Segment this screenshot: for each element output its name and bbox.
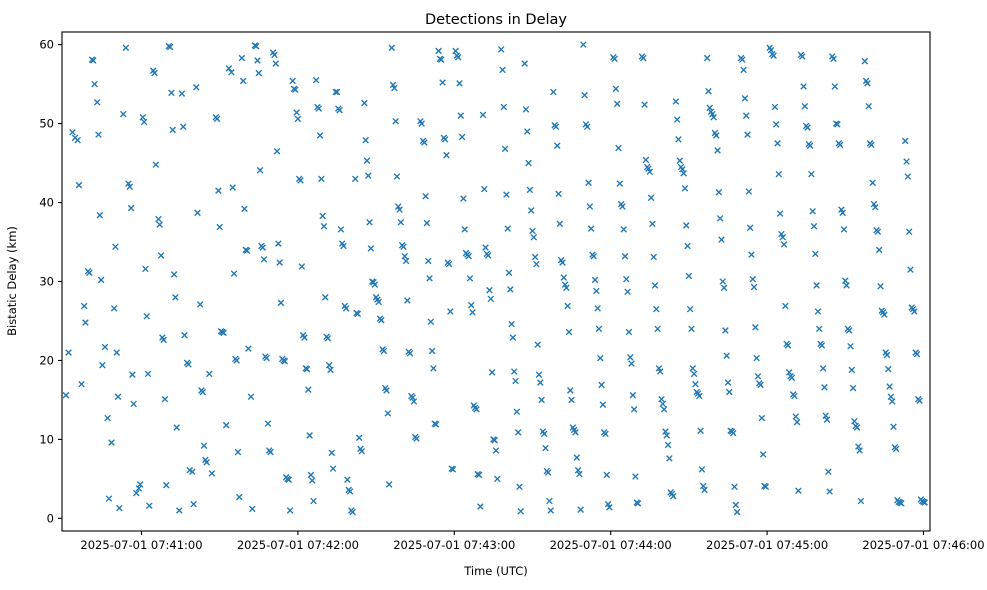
y-tick-label: 60 — [39, 38, 54, 52]
y-axis-label: Bistatic Delay (km) — [5, 226, 19, 336]
matplotlib-figure: Detections in Delay 2025-07-01 07:41:002… — [0, 0, 987, 590]
x-tick-label: 2025-07-01 07:46:00 — [862, 538, 984, 552]
y-tick-label: 10 — [39, 432, 54, 446]
x-tick-label: 2025-07-01 07:42:00 — [237, 538, 359, 552]
figure-background — [0, 0, 987, 590]
scatter-plot-canvas: Detections in Delay 2025-07-01 07:41:002… — [0, 0, 987, 590]
y-tick-label: 50 — [39, 117, 54, 131]
x-tick-label: 2025-07-01 07:41:00 — [80, 538, 202, 552]
y-tick-label: 40 — [39, 196, 54, 210]
y-tick-label: 20 — [39, 353, 54, 367]
page-title: Detections in Delay — [425, 12, 567, 28]
x-axis-label: Time (UTC) — [463, 564, 528, 578]
x-tick-label: 2025-07-01 07:44:00 — [550, 538, 672, 552]
y-tick-label: 0 — [47, 511, 54, 525]
x-tick-label: 2025-07-01 07:45:00 — [706, 538, 828, 552]
y-tick-label: 30 — [39, 275, 54, 289]
x-tick-label: 2025-07-01 07:43:00 — [393, 538, 515, 552]
